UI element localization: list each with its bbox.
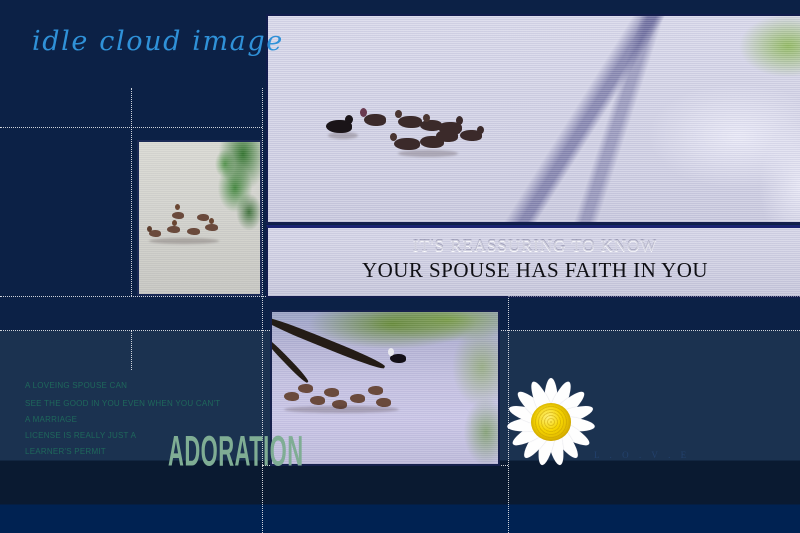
duck-head bbox=[388, 348, 394, 356]
duck-head bbox=[175, 204, 180, 210]
duck bbox=[310, 396, 325, 405]
wordmark-adoration: ADORATION bbox=[168, 427, 304, 478]
duck bbox=[197, 214, 209, 221]
quote-line-3: A MARRIAGE bbox=[25, 415, 77, 424]
quote-line-2: SEE THE GOOD IN YOU EVEN WHEN YOU CAN'T bbox=[25, 399, 220, 408]
duck bbox=[187, 228, 200, 235]
duck-reflection bbox=[328, 132, 358, 139]
duck bbox=[167, 226, 180, 233]
photo-ducks-under-tree-branch bbox=[270, 310, 500, 466]
duck-reflection bbox=[284, 406, 399, 413]
duck bbox=[376, 398, 391, 407]
duck-head bbox=[345, 115, 353, 124]
collage-canvas: IT'S REASSURING TO KNOW YOUR SPOUSE HAS … bbox=[0, 0, 800, 533]
page-title: idle cloud image bbox=[32, 26, 284, 57]
duck-head bbox=[209, 218, 214, 224]
headline-main-text: YOUR SPOUSE HAS FAITH IN YOU bbox=[268, 258, 800, 283]
duck bbox=[298, 384, 313, 393]
duck bbox=[324, 388, 339, 397]
duck-head bbox=[456, 116, 463, 125]
duck-head bbox=[395, 110, 402, 118]
photo-left-canvas bbox=[139, 142, 260, 294]
love-text: L . O . V . E bbox=[594, 450, 690, 460]
guide-line-vertical-left-lower bbox=[131, 330, 132, 370]
headline-panel: IT'S REASSURING TO KNOW YOUR SPOUSE HAS … bbox=[266, 225, 800, 298]
guide-line-horizontal-right bbox=[508, 296, 800, 297]
photo-main-canvas bbox=[268, 16, 800, 222]
duck-head bbox=[477, 126, 484, 134]
quote-line-4: LICENSE IS REALLY JUST A bbox=[25, 431, 136, 440]
quote-line-1: A LOVEING SPOUSE CAN bbox=[25, 381, 127, 390]
duck bbox=[368, 386, 383, 395]
duck-head bbox=[172, 220, 177, 226]
photo-ducks-on-pale-water-with-foliage bbox=[266, 14, 800, 224]
guide-line-vertical-left bbox=[131, 88, 132, 296]
daisy-center bbox=[531, 403, 571, 441]
duck bbox=[398, 116, 422, 128]
duck bbox=[350, 394, 365, 403]
duck-head bbox=[147, 226, 152, 232]
duck-head bbox=[423, 114, 430, 122]
duck bbox=[394, 138, 420, 150]
duck-reflection bbox=[149, 238, 219, 244]
photo-ducks-swimming-with-leaves bbox=[137, 140, 262, 296]
headline-ghost-text: IT'S REASSURING TO KNOW bbox=[268, 236, 800, 256]
photo-bottom-canvas bbox=[272, 312, 498, 464]
quote-line-5: LEARNER'S PERMIT bbox=[25, 447, 106, 456]
duck bbox=[172, 212, 184, 219]
duck bbox=[284, 392, 299, 401]
duck-head bbox=[360, 108, 367, 117]
duck-head bbox=[390, 133, 397, 141]
duck-reflection bbox=[398, 150, 458, 157]
duck bbox=[364, 114, 386, 126]
duck bbox=[205, 224, 218, 231]
white-daisy-flower bbox=[497, 368, 605, 476]
